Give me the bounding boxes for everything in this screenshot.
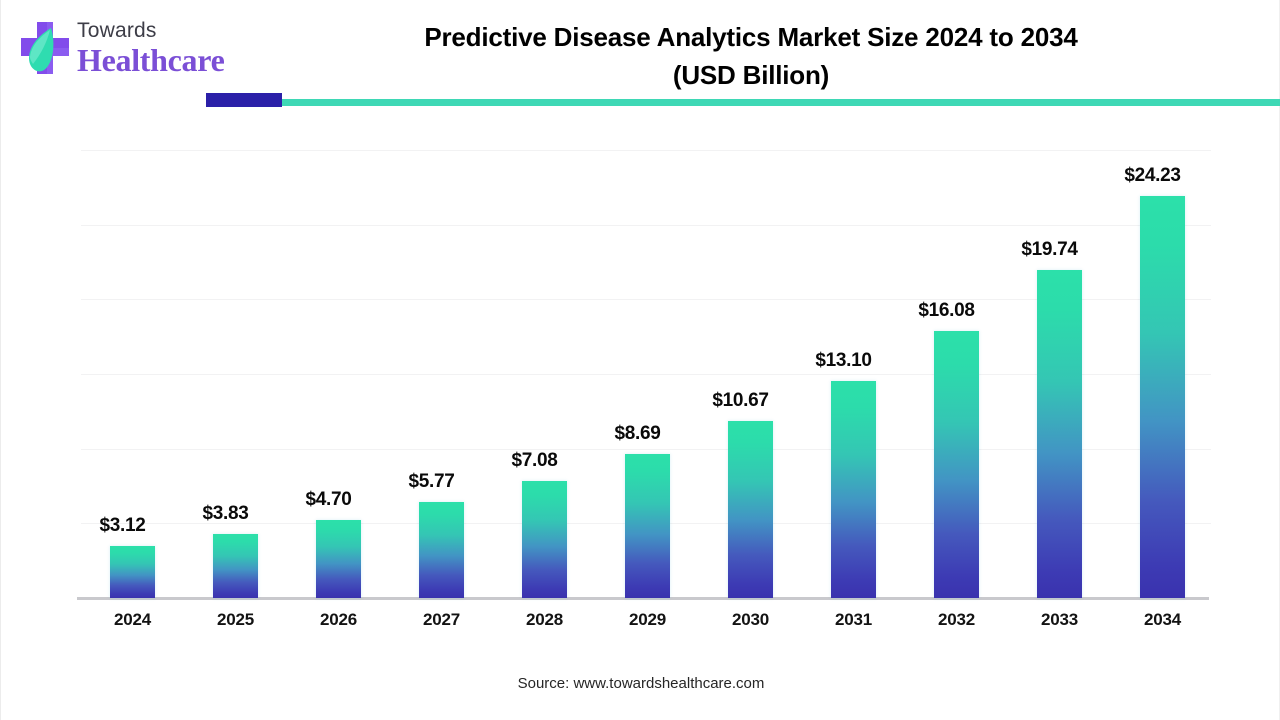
bar-value-label: $8.69 <box>586 423 689 445</box>
x-axis-label: 2027 <box>390 610 493 630</box>
chart-page: Towards Healthcare Predictive Disease An… <box>0 0 1280 720</box>
bar-slot: $16.08 <box>905 150 1008 598</box>
bar-value-label: $19.74 <box>998 239 1101 261</box>
brand-word-bottom: Healthcare <box>77 43 257 78</box>
x-axis-label: 2026 <box>287 610 390 630</box>
bar[interactable] <box>934 331 979 598</box>
bar[interactable] <box>419 502 464 598</box>
bar-slot: $13.10 <box>802 150 905 598</box>
bar-series: $3.12$3.83$4.70$5.77$7.08$8.69$10.67$13.… <box>81 150 1211 598</box>
bar-slot: $19.74 <box>1008 150 1111 598</box>
bar-slot: $10.67 <box>699 150 802 598</box>
x-axis-label: 2031 <box>802 610 905 630</box>
bar-value-label: $3.83 <box>174 503 277 525</box>
bar[interactable] <box>1037 270 1082 598</box>
x-axis-label: 2034 <box>1111 610 1214 630</box>
bar-value-label: $13.10 <box>792 350 895 372</box>
page-title: Predictive Disease Analytics Market Size… <box>301 18 1201 94</box>
bar[interactable] <box>625 454 670 598</box>
bar[interactable] <box>831 381 876 598</box>
bar-slot: $3.83 <box>184 150 287 598</box>
x-axis-label: 2028 <box>493 610 596 630</box>
x-axis-label: 2029 <box>596 610 699 630</box>
medical-cross-leaf-icon <box>17 20 73 78</box>
x-axis-label: 2032 <box>905 610 1008 630</box>
bar-value-label: $24.23 <box>1101 165 1204 187</box>
bar[interactable] <box>110 546 155 598</box>
bar-value-label: $5.77 <box>380 471 483 493</box>
brand-logo[interactable]: Towards Healthcare <box>15 12 265 88</box>
bar-slot: $3.12 <box>81 150 184 598</box>
brand-word-top: Towards <box>77 18 257 43</box>
bar-value-label: $10.67 <box>689 390 792 412</box>
bar-value-label: $3.12 <box>71 515 174 537</box>
page-title-line1: Predictive Disease Analytics Market Size… <box>301 18 1201 56</box>
x-axis-label: 2024 <box>81 610 184 630</box>
bar-value-label: $7.08 <box>483 450 586 472</box>
bar[interactable] <box>1140 196 1185 598</box>
chart-header: Towards Healthcare Predictive Disease An… <box>1 0 1280 100</box>
bar-slot: $5.77 <box>390 150 493 598</box>
source-note: Source: www.towardshealthcare.com <box>1 675 1280 692</box>
bar-value-label: $4.70 <box>277 489 380 511</box>
bar[interactable] <box>316 520 361 598</box>
x-axis-label: 2030 <box>699 610 802 630</box>
x-axis-labels: 2024202520262027202820292030203120322033… <box>81 610 1211 640</box>
bar-value-label: $16.08 <box>895 300 998 322</box>
bar-slot: $4.70 <box>287 150 390 598</box>
bar[interactable] <box>728 421 773 598</box>
bar-slot: $7.08 <box>493 150 596 598</box>
bar-slot: $24.23 <box>1111 150 1214 598</box>
x-axis-label: 2025 <box>184 610 287 630</box>
bar-slot: $8.69 <box>596 150 699 598</box>
bar[interactable] <box>522 481 567 598</box>
page-title-line2: (USD Billion) <box>301 56 1201 94</box>
divider-accent <box>206 93 282 107</box>
bar[interactable] <box>213 534 258 598</box>
x-axis-label: 2033 <box>1008 610 1111 630</box>
divider-teal <box>206 99 1280 106</box>
